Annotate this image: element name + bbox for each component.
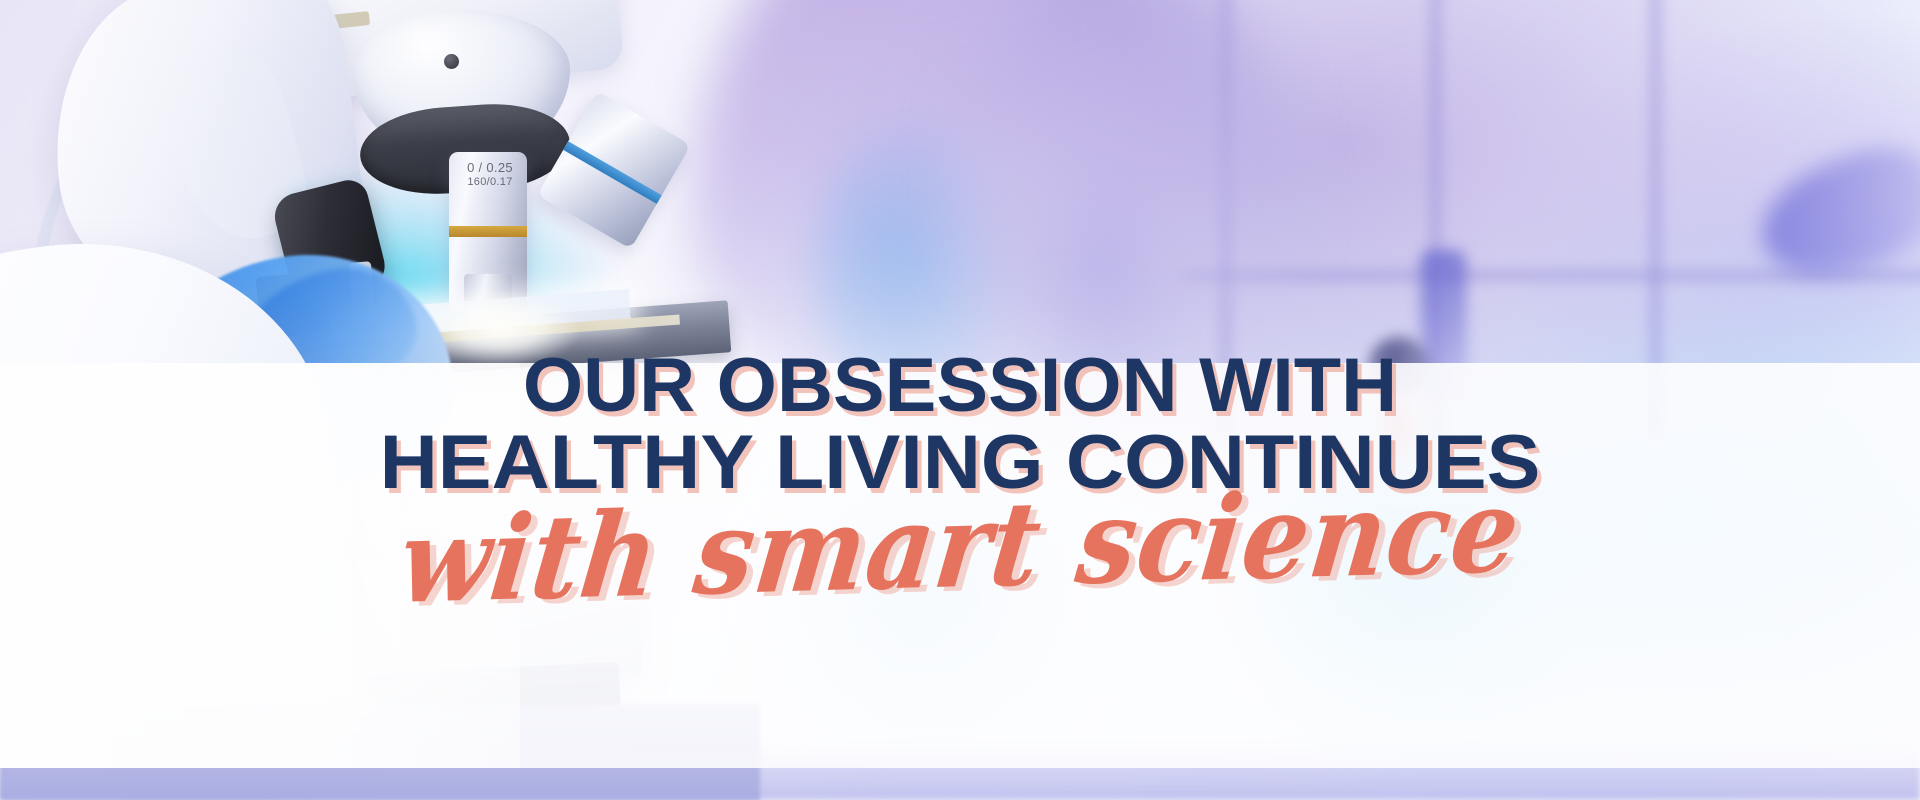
background-glassware-left (760, 430, 1080, 770)
hero-banner: 0 / 0.25 160/0.17 OUR OBSESSION WITH HEA… (0, 0, 1920, 800)
background-glassware-cyan (1240, 430, 1600, 760)
nosepiece-screw (444, 54, 459, 69)
objective-label-line2: 160/0.17 (449, 175, 531, 190)
objective-gold-band (449, 226, 527, 237)
objective-lens-label: 0 / 0.25 160/0.17 (449, 160, 531, 190)
background-bottle-cap (1368, 336, 1430, 398)
objective-label-line1: 0 / 0.25 (449, 160, 531, 175)
microscope: 0 / 0.25 160/0.17 (0, 0, 760, 800)
lab-desk-band (0, 740, 1920, 800)
